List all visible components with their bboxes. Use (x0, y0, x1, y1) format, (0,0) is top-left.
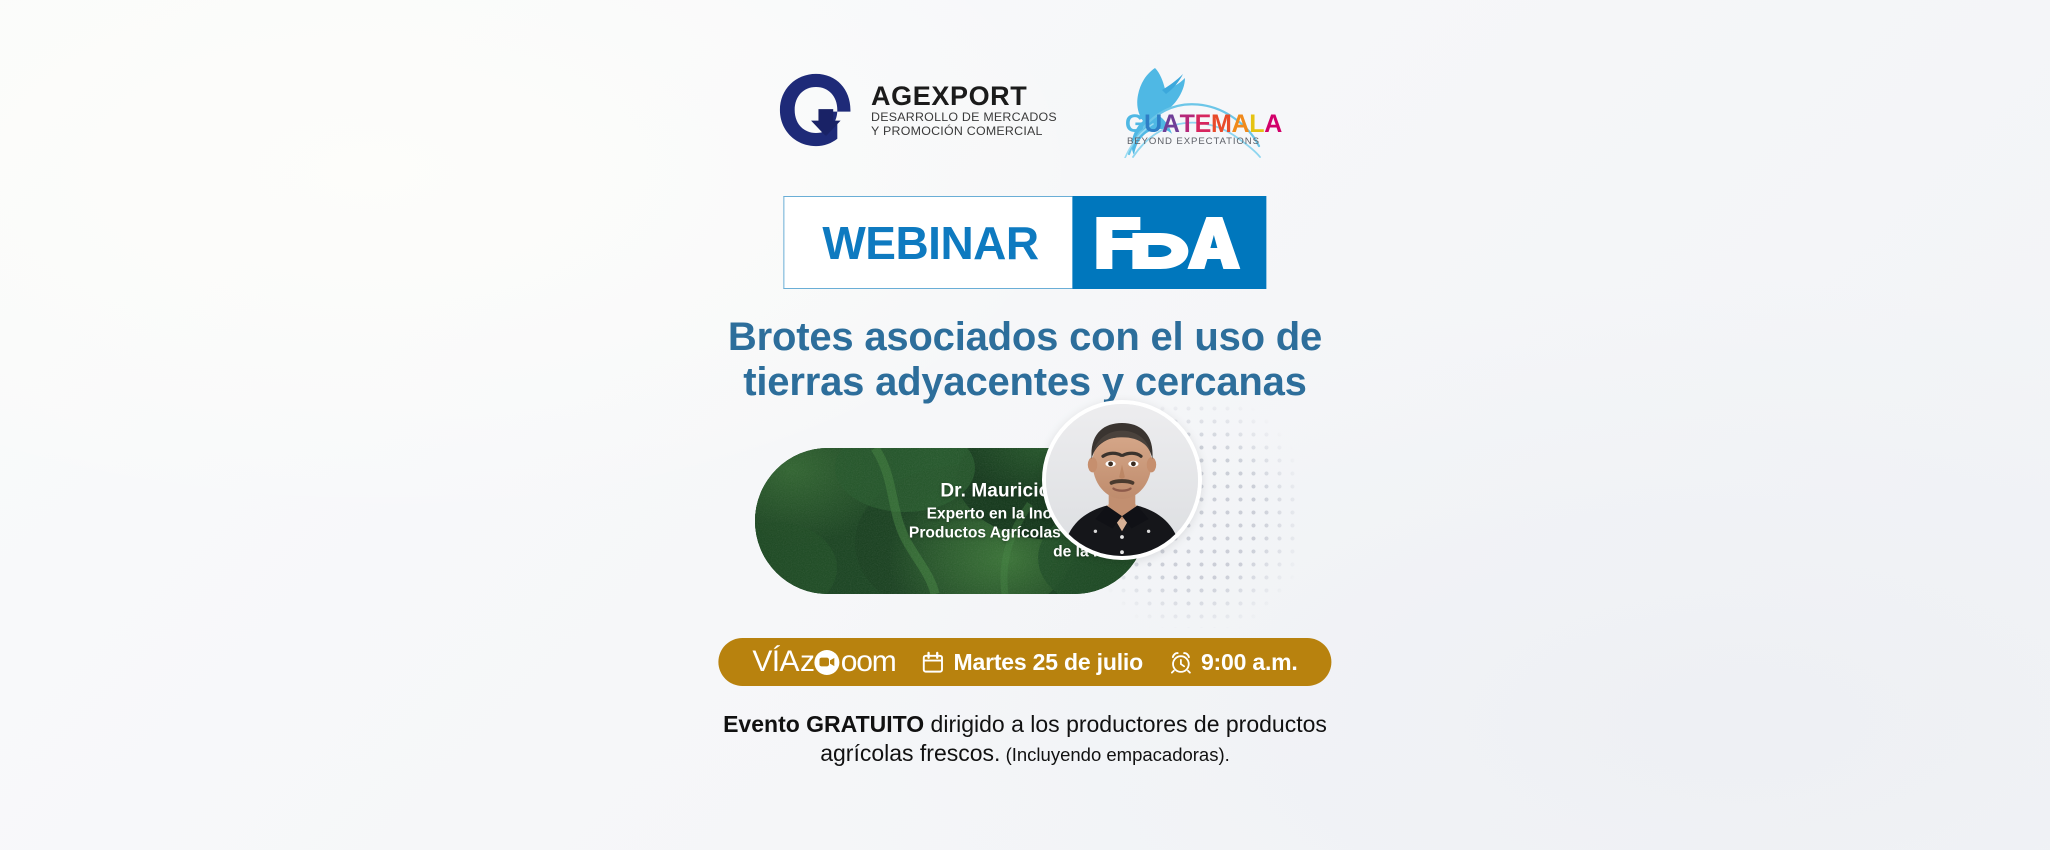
footer-line2: agrícolas frescos. (Incluyendo empacador… (575, 739, 1475, 768)
agexport-logo: AGEXPORT DESARROLLO DE MERCADOS Y PROMOC… (775, 69, 1057, 151)
zoom-label-start: z (800, 647, 814, 677)
guatemala-letter-7: L (1249, 112, 1264, 137)
webinar-fda-banner: WEBINAR (783, 196, 1266, 289)
guatemala-subtitle: BEYOND EXPECTATIONS (1127, 136, 1260, 147)
speaker-avatar (1042, 400, 1202, 560)
guatemala-letter-1: U (1144, 112, 1162, 137)
fda-logo-box (1073, 196, 1267, 289)
event-date: Martes 25 de julio (922, 649, 1143, 676)
guatemala-letter-8: A (1264, 112, 1282, 137)
webinar-label: WEBINAR (822, 216, 1038, 270)
zoom-camera-icon (815, 650, 840, 675)
alarm-clock-icon (1169, 651, 1192, 674)
speaker-portrait (1046, 404, 1198, 556)
footer-line1-rest: dirigido a los productores de productos (924, 711, 1327, 737)
event-time-label: 9:00 a.m. (1201, 649, 1298, 676)
calendar-icon (922, 651, 945, 674)
guatemala-wordmark: GUATEMALA (1125, 112, 1282, 137)
event-time: 9:00 a.m. (1169, 649, 1298, 676)
page-title: Brotes asociados con el uso de tierras a… (475, 315, 1575, 405)
guatemala-logo: GUATEMALA BEYOND EXPECTATIONS (1099, 62, 1275, 158)
webinar-label-box: WEBINAR (783, 196, 1072, 289)
speaker-section: Dr. Mauricio Castelo Experto en la Inocu… (755, 400, 1295, 630)
event-date-label: Martes 25 de julio (954, 649, 1143, 676)
event-details-bar: VÍA z oom Martes 25 de julio (718, 638, 1331, 686)
agexport-name: AGEXPORT (871, 81, 1057, 111)
agexport-wordmark: AGEXPORT DESARROLLO DE MERCADOS Y PROMOC… (871, 81, 1057, 139)
agexport-tagline-line2: Y PROMOCIÓN COMERCIAL (871, 125, 1057, 139)
guatemala-letter-0: G (1125, 112, 1144, 137)
footer-description: Evento GRATUITO dirigido a los productor… (575, 710, 1475, 768)
via-label: VÍA (752, 647, 799, 677)
guatemala-letter-5: M (1211, 112, 1232, 137)
footer-line2-main: agrícolas frescos. (820, 740, 1000, 766)
webinar-flyer: AGEXPORT DESARROLLO DE MERCADOS Y PROMOC… (0, 0, 2050, 850)
guatemala-letter-2: A (1162, 112, 1180, 137)
via-zoom-lockup: VÍA z oom (752, 638, 895, 686)
event-title-line1: Brotes asociados con el uso de (728, 315, 1322, 359)
footer-line2-paren: (Incluyendo empacadoras). (1000, 744, 1229, 765)
guatemala-letter-3: T (1180, 112, 1195, 137)
agexport-g-icon (775, 69, 857, 151)
guatemala-letter-6: A (1232, 112, 1250, 137)
event-title-line2: tierras adyacentes y cercanas (475, 360, 1575, 405)
guatemala-letter-4: E (1195, 112, 1211, 137)
fda-logo (1095, 215, 1241, 271)
zoom-label-end: oom (841, 647, 896, 677)
footer-strong: Evento GRATUITO (723, 711, 924, 737)
logo-row: AGEXPORT DESARROLLO DE MERCADOS Y PROMOC… (0, 62, 2050, 158)
